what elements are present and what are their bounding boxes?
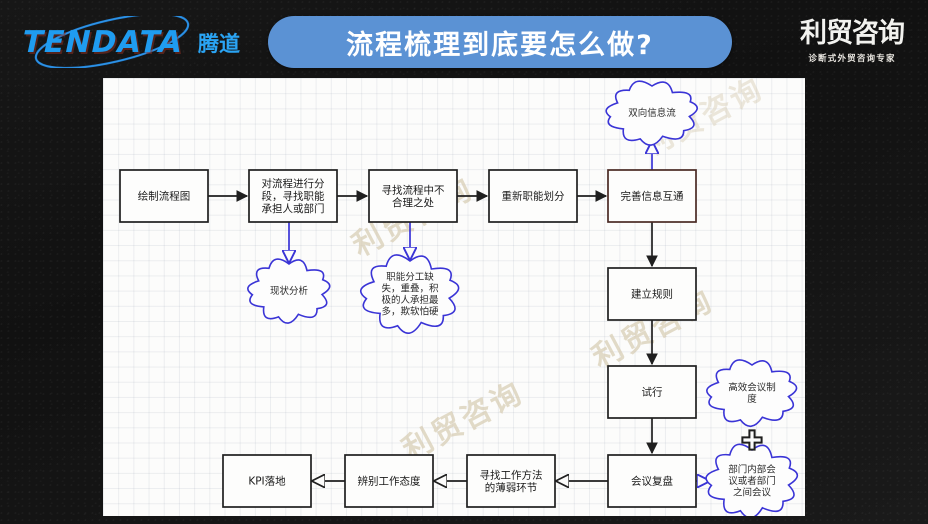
tendata-logo-cn: 腾道 [198,32,240,56]
flow-node[interactable]: 试行 [608,366,696,418]
svg-text:建立规则: 建立规则 [631,288,673,301]
svg-text:会议复盘: 会议复盘 [631,475,673,488]
flow-node[interactable]: 重新职能划分 [489,170,577,222]
svg-text:KPI落地: KPI落地 [248,475,286,488]
flow-node[interactable]: 建立规则 [608,268,696,320]
flowchart-canvas: 利贸咨询 利贸咨询 利贸咨询 利贸咨询 绘制流程图对流程进行分段，寻找职能承担人… [103,78,805,516]
flow-cloud[interactable]: 职能分工缺失，重叠，积极的人承担最多，欺软怕硬 [361,255,459,333]
page-title: 流程梳理到底要怎么做? [346,23,654,62]
flow-node[interactable]: 绘制流程图 [120,170,208,222]
svg-text:寻找工作方法的薄弱环节: 寻找工作方法的薄弱环节 [480,468,543,494]
flow-node[interactable]: 完善信息互通 [608,170,696,222]
flow-node[interactable]: KPI落地 [223,455,311,507]
flow-cloud[interactable]: 现状分析 [248,259,330,323]
flow-node[interactable]: 会议复盘 [608,455,696,507]
svg-text:部门内部会议或者部门之间会议: 部门内部会议或者部门之间会议 [728,464,776,499]
svg-text:TENDATA: TENDATA [19,25,187,60]
svg-text:对流程进行分段，寻找职能承担人或部门: 对流程进行分段，寻找职能承担人或部门 [262,177,325,215]
flow-node[interactable]: 对流程进行分段，寻找职能承担人或部门 [249,170,337,222]
flow-node[interactable]: 辨别工作态度 [345,455,433,507]
flow-cloud[interactable]: 双向信息流 [606,81,697,145]
svg-text:绘制流程图: 绘制流程图 [138,190,191,203]
limao-logo-name: 利贸咨询 [800,20,904,47]
tendata-logo-mark: TENDATA TENDATA 腾道 [8,16,270,68]
flowchart-graphics: 绘制流程图对流程进行分段，寻找职能承担人或部门寻找流程中不合理之处重新职能划分完… [103,78,805,516]
svg-text:完善信息互通: 完善信息互通 [621,190,684,203]
limao-logo-tagline: 诊断式外贸咨询专家 [808,52,895,64]
flow-cloud[interactable]: 高效会议制度 [707,360,797,426]
flow-node[interactable]: 寻找流程中不合理之处 [369,170,457,222]
svg-text:辨别工作态度: 辨别工作态度 [358,475,421,488]
flow-cloud[interactable]: 部门内部会议或者部门之间会议 [706,444,797,516]
tendata-logo: TENDATA TENDATA 腾道 [8,16,270,68]
limao-logo: 利贸咨询 诊断式外贸咨询专家 [782,14,922,70]
svg-text:试行: 试行 [642,386,663,399]
svg-text:现状分析: 现状分析 [270,285,309,297]
svg-text:重新职能划分: 重新职能划分 [502,190,565,203]
slide-stage: TENDATA TENDATA 腾道 流程梳理到底要怎么做? 利贸咨询 诊断式外… [0,0,928,524]
svg-text:职能分工缺失，重叠，积极的人承担最多，欺软怕硬: 职能分工缺失，重叠，积极的人承担最多，欺软怕硬 [381,271,439,318]
slide-title-banner: 流程梳理到底要怎么做? [268,16,732,68]
svg-text:双向信息流: 双向信息流 [628,107,676,119]
flow-node[interactable]: 寻找工作方法的薄弱环节 [467,455,555,507]
